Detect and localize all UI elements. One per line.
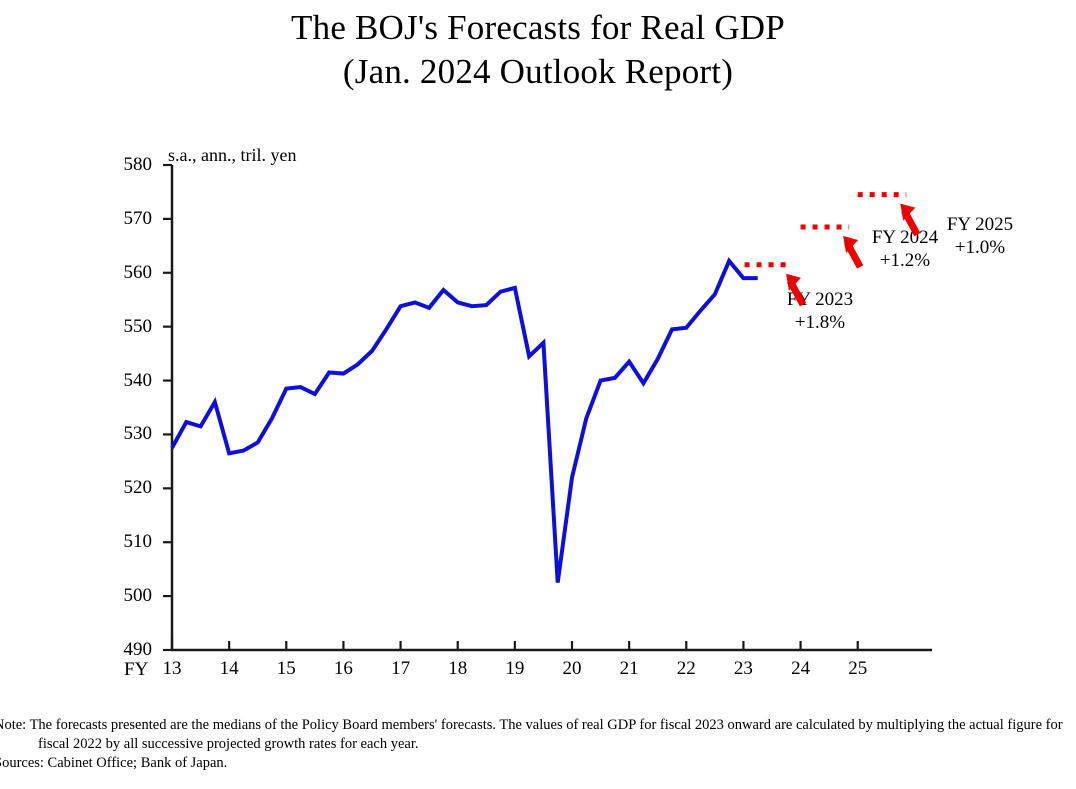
real-gdp-line <box>172 261 758 583</box>
footnote-sources: Sources: Cabinet Office; Bank of Japan. <box>0 754 1076 773</box>
footnote-note-line-1: Note: The forecasts presented are the me… <box>0 716 1076 735</box>
plot-canvas <box>0 0 1076 710</box>
gdp-forecast-chart: s.a., ann., tril. yen FY 580570560550540… <box>0 0 1076 710</box>
footnotes-block: Note: The forecasts presented are the me… <box>0 716 1076 773</box>
footnote-note-line-2: fiscal 2022 by all successive projected … <box>0 735 1076 754</box>
forecast-dotted-lines <box>745 195 907 265</box>
series-line-real-gdp <box>172 261 758 583</box>
annotation-arrows <box>786 204 917 305</box>
